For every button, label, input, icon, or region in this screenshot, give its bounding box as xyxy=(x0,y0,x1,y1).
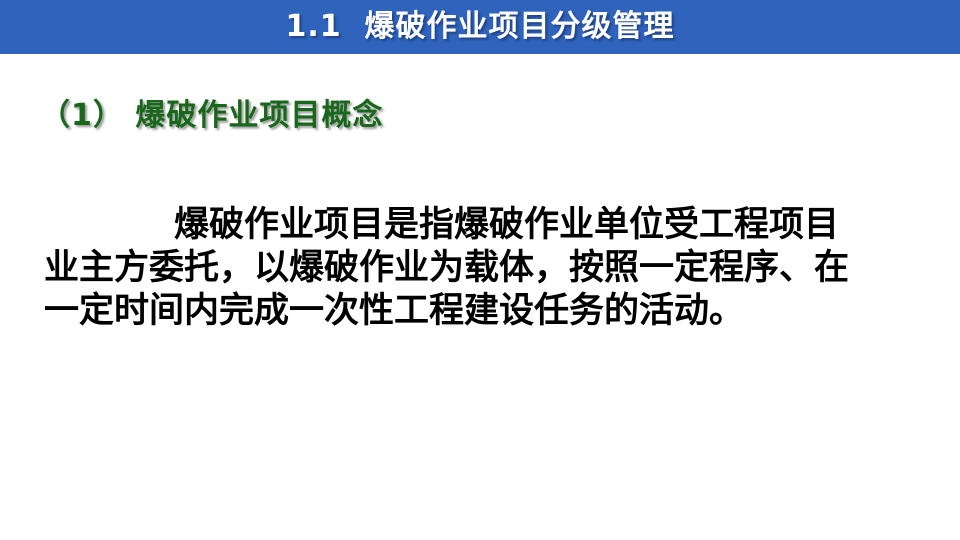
section-heading: （1） 爆破作业项目概念 xyxy=(40,98,383,134)
body-line: 爆破作业项目是指爆破作业单位受工程项目 xyxy=(44,204,924,247)
body-line: 一定时间内完成一次性工程建设任务的活动。 xyxy=(44,290,924,333)
body-paragraph: 爆破作业项目是指爆破作业单位受工程项目 业主方委托，以爆破作业为载体，按照一定程… xyxy=(44,204,924,333)
body-line: 业主方委托，以爆破作业为载体，按照一定程序、在 xyxy=(44,247,924,290)
slide-title-bar: 1.1 爆破作业项目分级管理 xyxy=(0,0,960,54)
slide-title: 1.1 爆破作业项目分级管理 xyxy=(285,12,674,42)
slide-canvas: 1.1 爆破作业项目分级管理 （1） 爆破作业项目概念 爆破作业项目是指爆破作业… xyxy=(0,0,960,540)
